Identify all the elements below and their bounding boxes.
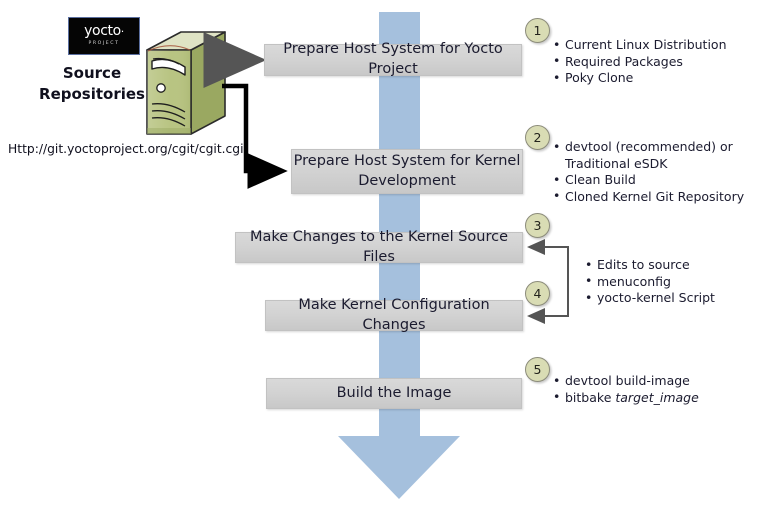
source-label-line-2: Repositories: [36, 84, 148, 105]
step-box-3-label: Make Changes to the Kernel Source Files: [236, 228, 522, 267]
steps-3-4-bullets: Edits to source menuconfig yocto-kernel …: [585, 257, 715, 307]
bullet-item: Required Packages: [553, 54, 727, 71]
step-number-2: 2: [525, 125, 550, 150]
step-box-3[interactable]: Make Changes to the Kernel Source Files: [235, 232, 523, 263]
yocto-logo-dot: ·: [121, 25, 124, 38]
source-label-line-1: Source: [36, 63, 148, 84]
step-number-1: 1: [525, 18, 550, 43]
bitbake-command: bitbake: [565, 390, 615, 405]
bullet-item: Poky Clone: [553, 70, 727, 87]
step-number-3: 3: [525, 213, 550, 238]
step-box-2-label: Prepare Host System for Kernel Developme…: [294, 152, 521, 191]
step-5-bullets: devtool build-image bitbake target_image: [553, 373, 699, 406]
bullet-item: menuconfig: [585, 274, 715, 291]
yocto-logo-wordmark: yocto·: [84, 24, 124, 39]
step-box-5[interactable]: Build the Image: [266, 378, 522, 409]
source-repositories-label: Source Repositories: [36, 63, 148, 105]
arrow-server-to-step2: [222, 86, 281, 171]
yocto-project-logo: yocto· PROJECT: [68, 17, 140, 55]
step-box-1[interactable]: Prepare Host System for Yocto Project: [264, 44, 522, 76]
diagram-canvas: yocto· PROJECT Source Repositories Http:…: [0, 0, 769, 517]
source-repositories-url: Http://git.yoctoproject.org/cgit/cgit.cg…: [8, 142, 244, 156]
step-number-4: 4: [525, 281, 550, 306]
step-box-2-line-1: Prepare Host System for Kernel: [294, 153, 521, 169]
bullet-item: Current Linux Distribution: [553, 37, 727, 54]
bullet-item: Clean Build: [553, 172, 744, 189]
bullet-item: devtool build-image: [553, 373, 699, 390]
step-box-4-label: Make Kernel Configuration Changes: [266, 296, 522, 335]
workflow-spine-arrowhead: [338, 436, 460, 499]
yocto-logo-subtext: PROJECT: [88, 40, 119, 48]
bullet-item-bitbake: bitbake target_image: [553, 390, 699, 407]
bitbake-target-argument: target_image: [615, 390, 698, 405]
step-box-2-line-2: Development: [358, 173, 456, 189]
step-box-4[interactable]: Make Kernel Configuration Changes: [265, 300, 523, 331]
step-box-5-label: Build the Image: [337, 384, 452, 404]
yocto-logo-text: yocto: [84, 23, 121, 39]
step-box-1-label: Prepare Host System for Yocto Project: [265, 40, 521, 79]
server-tower-icon: [135, 28, 229, 141]
bullet-item: devtool (recommended) or: [553, 139, 744, 156]
bullet-item: Edits to source: [585, 257, 715, 274]
step-1-bullets: Current Linux Distribution Required Pack…: [553, 37, 727, 87]
bullet-item: Cloned Kernel Git Repository: [553, 189, 744, 206]
bullet-item-continuation: Traditional eSDK: [553, 156, 744, 173]
step-box-2[interactable]: Prepare Host System for Kernel Developme…: [291, 149, 523, 194]
step-2-bullets: devtool (recommended) or Traditional eSD…: [553, 139, 744, 205]
step-number-5: 5: [525, 357, 550, 382]
bullet-item: yocto-kernel Script: [585, 290, 715, 307]
